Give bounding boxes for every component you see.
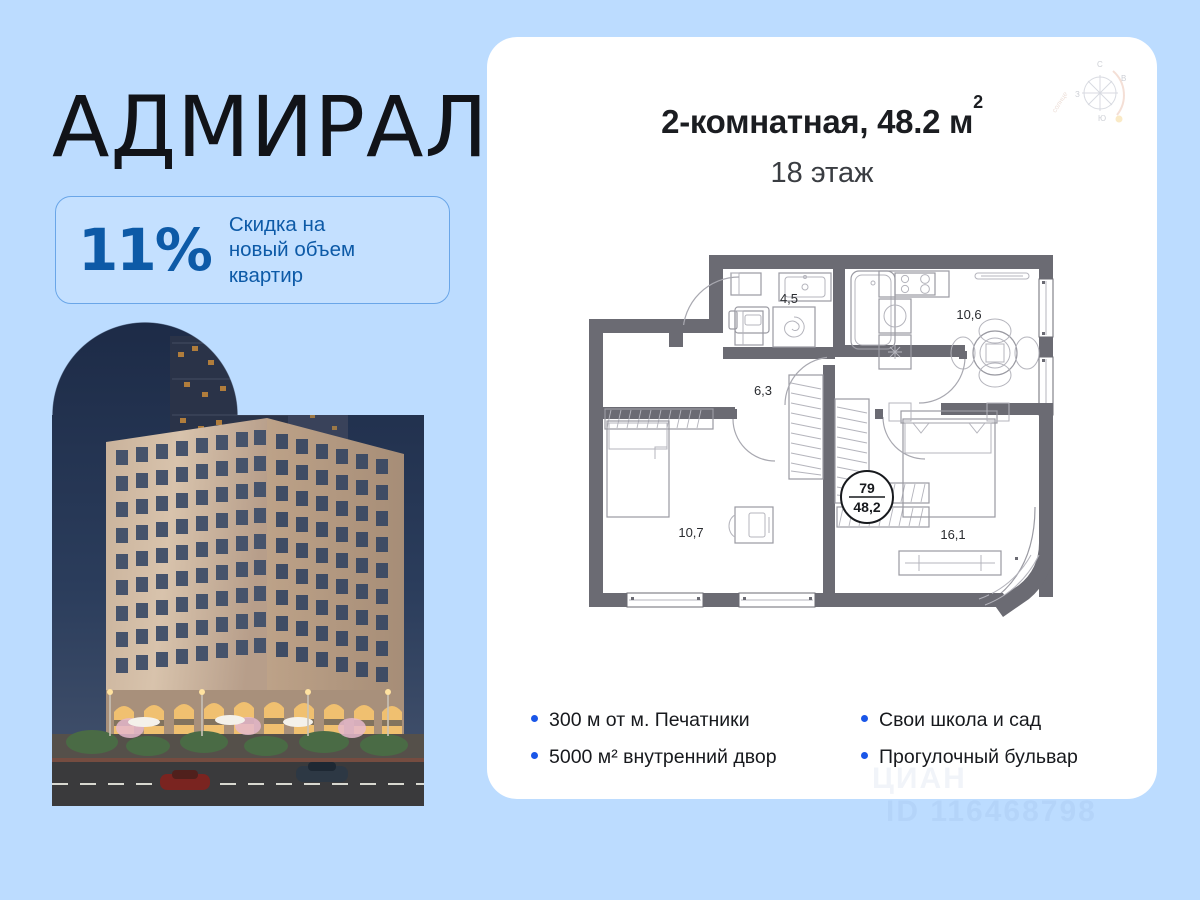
- bullet-dot-icon: [531, 752, 538, 759]
- bullet-dot-icon: [861, 715, 868, 722]
- room-area-bedroom1: 16,1: [940, 527, 965, 542]
- left-promo-panel: АДМИРАЛ 11% Скидка на новый объем кварти…: [0, 0, 480, 900]
- discount-line-1: Скидка на: [229, 212, 355, 238]
- floorplan-card: С В Ю З солнце 2-комнатная, 48.2 м2 18 э…: [487, 37, 1157, 799]
- building-render-svg: [52, 322, 424, 806]
- discount-percent: 11%: [78, 221, 211, 279]
- page-title-superscript: 2: [973, 92, 983, 112]
- feature-label-school: Свои школа и сад: [879, 709, 1041, 732]
- feature-list: 300 м от м. Печатники Свои школа и сад 5…: [531, 702, 1131, 776]
- discount-line-2: новый объем: [229, 237, 355, 263]
- apartment-badge: 79 48,2: [841, 471, 893, 523]
- feature-item-boulevard: Прогулочный бульвар: [861, 746, 1131, 769]
- bullet-dot-icon: [861, 752, 868, 759]
- brand-logo: АДМИРАЛ: [52, 88, 452, 166]
- advertisement-page: АДМИРАЛ 11% Скидка на новый объем кварти…: [0, 0, 1200, 900]
- room-area-bedroom2: 10,7: [678, 525, 703, 540]
- discount-description: Скидка на новый объем квартир: [229, 212, 355, 289]
- apartment-total-area: 48,2: [853, 499, 880, 515]
- feature-label-courtyard: 5000 м² внутренний двор: [549, 746, 777, 769]
- building-photo: [52, 322, 424, 806]
- bullet-dot-icon: [531, 715, 538, 722]
- room-area-kitchen: 10,6: [956, 307, 981, 322]
- discount-badge: 11% Скидка на новый объем квартир: [55, 196, 450, 304]
- feature-item-school: Свои школа и сад: [861, 709, 1131, 732]
- watermark-id: ID 116468798: [886, 795, 1097, 829]
- compass-west-label: З: [1075, 90, 1080, 99]
- floor-subtitle: 18 этаж: [487, 157, 1157, 190]
- discount-line-3: квартир: [229, 263, 355, 289]
- feature-label-boulevard: Прогулочный бульвар: [879, 746, 1078, 769]
- room-area-hall: 6,3: [754, 383, 772, 398]
- compass-east-label: В: [1121, 74, 1126, 83]
- page-title: 2-комнатная, 48.2 м2: [487, 103, 1157, 141]
- feature-item-courtyard: 5000 м² внутренний двор: [531, 746, 861, 769]
- compass-north-label: С: [1097, 60, 1103, 69]
- room-area-bathroom: 4,5: [780, 291, 798, 306]
- feature-item-metro: 300 м от м. Печатники: [531, 709, 861, 732]
- floorplan-drawing: .wall { fill:#6b6b73; } .thin { fill:non…: [583, 207, 1093, 637]
- apartment-number: 79: [859, 480, 875, 496]
- feature-label-metro: 300 м от м. Печатники: [549, 709, 750, 732]
- page-title-text: 2-комнатная, 48.2 м: [661, 103, 973, 140]
